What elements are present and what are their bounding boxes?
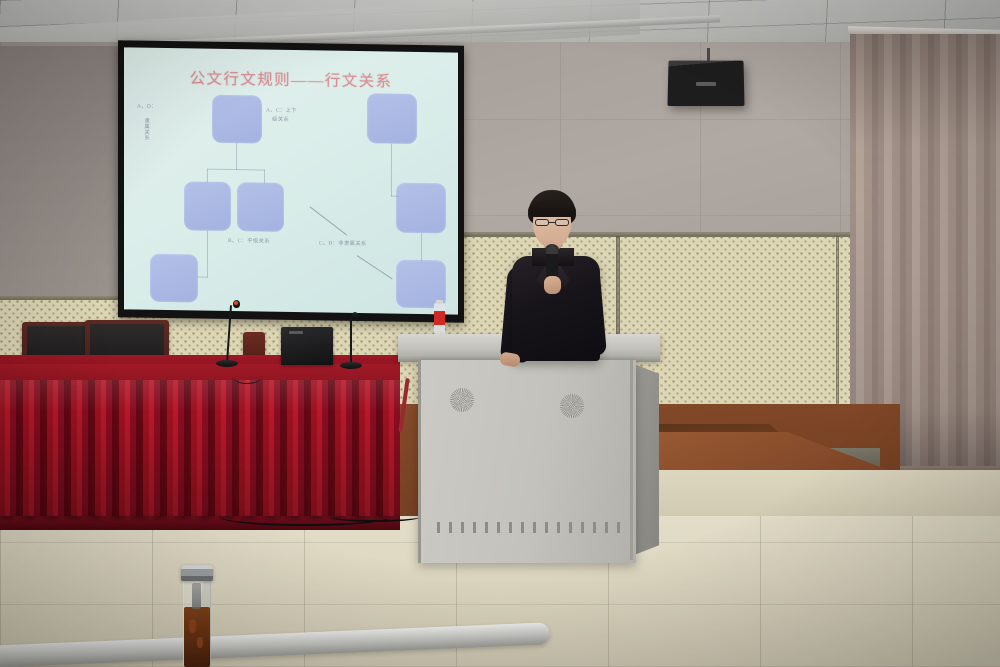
left-wall-shadow [0, 46, 118, 316]
gooseneck-microphone-right-stem [350, 318, 352, 366]
presenter-hand-right [544, 276, 561, 294]
gooseneck-microphone-right-head [352, 312, 358, 319]
link-b-d-h [197, 277, 208, 279]
label-a-d-sub: 隶属关系 [142, 118, 149, 216]
node-d [150, 254, 198, 303]
tea-leaf [189, 619, 196, 633]
link-b-d-v [207, 231, 208, 278]
thermos-filter [192, 583, 201, 609]
diagonal-line-upper [310, 206, 347, 235]
node-b [184, 181, 231, 231]
speaker-badge [696, 82, 716, 86]
node-c [237, 182, 284, 232]
thermos-cap[interactable] [181, 565, 213, 581]
tea-thermos[interactable] [178, 565, 216, 667]
presenter-hair-fringe [528, 200, 576, 217]
podium-edge-left [418, 360, 421, 563]
label-b-c: B、C：平级关系 [228, 238, 270, 246]
thermos-tea [184, 607, 210, 667]
podium-edge-right [630, 360, 633, 560]
link-e-f-v [391, 144, 392, 197]
label-c-b: C、B：非隶属关系 [319, 240, 367, 249]
link-a-bar [207, 169, 265, 171]
podium-speaker-grille-right [560, 394, 584, 418]
gooseneck-microphone-right-base[interactable] [340, 362, 362, 369]
wall-speaker [667, 61, 744, 106]
label-a-c: A、C：上下 [266, 108, 297, 116]
label-a-c-sub: 级关系 [272, 117, 289, 125]
node-f [396, 183, 446, 234]
water-bottle-body [434, 303, 445, 334]
lecture-hall-scene: 公文行文规则——行文关系 A、D： [0, 0, 1000, 667]
presenter [492, 190, 620, 365]
laptop-logo [289, 331, 303, 334]
podium-vent-slots [428, 522, 628, 533]
projection-screen-surface: 公文行文规则——行文关系 A、D： [124, 47, 458, 314]
water-bottle-cap [436, 300, 443, 304]
gooseneck-microphone-left-base[interactable] [216, 360, 238, 367]
mic-cable-1 [232, 368, 262, 384]
link-bar-c [264, 170, 265, 184]
diagonal-line-lower [357, 255, 393, 279]
link-f-g [421, 233, 422, 261]
node-a [212, 95, 262, 144]
floor-cable-2 [330, 512, 420, 522]
link-bar-b [207, 169, 208, 183]
slide-title: 公文行文规则——行文关系 [124, 65, 458, 92]
link-e-f-h [391, 196, 399, 198]
projection-screen: 公文行文规则——行文关系 A、D： [118, 40, 464, 322]
laptop[interactable] [281, 327, 333, 365]
glasses-lens-left [535, 219, 549, 226]
link-a-trunk [236, 143, 237, 170]
node-e [367, 93, 417, 144]
water-bottle[interactable] [434, 300, 445, 334]
tea-leaf [197, 637, 203, 648]
podium-speaker-grille-left [450, 388, 474, 412]
glasses-lens-right [555, 219, 569, 226]
label-a-d: A、D： [137, 104, 157, 112]
gooseneck-microphone-left-tip [234, 301, 238, 305]
glasses-bridge [549, 222, 555, 223]
